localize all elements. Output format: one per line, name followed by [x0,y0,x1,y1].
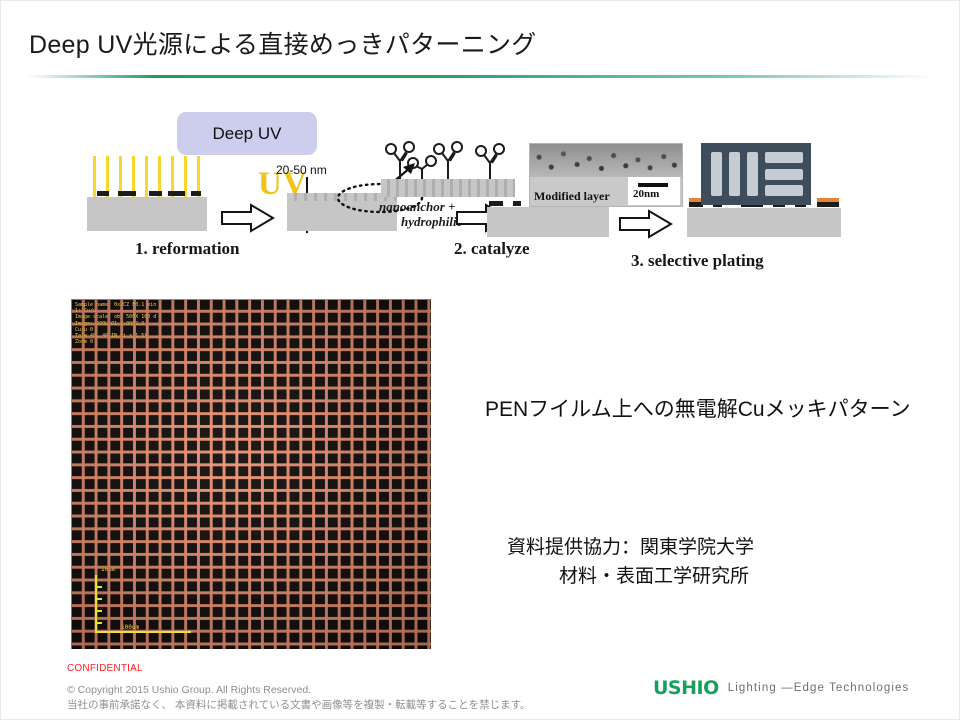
step-label-1: 1. reformation [135,239,240,259]
slide-canvas: Deep UV光源による直接めっきパターニング Deep UV UV [0,0,960,720]
photo-bar [765,152,803,163]
scale-tick [95,610,102,612]
scale-axis-vertical [95,575,97,633]
tem-micrograph-inset: Modified layer 20nm [529,143,683,207]
process-arrow-icon [221,203,275,233]
scale-label-horizontal: 100um [121,624,139,631]
photo-bar [765,185,803,196]
tem-scale-bar [638,183,668,187]
thickness-label: 20-50 nm [276,163,327,177]
credit-line-1: 資料提供協力：関東学院大学 [507,537,754,558]
ushio-wordmark: USHIO [653,677,719,699]
mask-segment [118,191,136,196]
scale-axis-horizontal [95,631,191,633]
tem-scale-box: 20nm [628,177,680,205]
plating-pattern-micrograph: Sample name: 0x2CZ E0.1 min 1: Cu/u Imag… [71,299,431,649]
photo-bar [711,152,722,196]
uv-ray-icon [93,156,96,198]
confidential-marking: CONFIDENTIAL [67,663,143,674]
tem-grain-texture [530,144,682,177]
plating-result-photo [701,143,811,205]
nanoanchor-caption-line1: nanoanchor + [379,199,455,214]
micrograph-scale-overlay: 10um 100um [95,575,191,633]
substrate-block [487,207,609,237]
catalyst-dot [489,201,503,206]
scale-label-vertical: 10um [101,566,115,573]
photo-bar [747,152,758,196]
photo-bar [765,169,803,180]
substrate-block [87,197,207,231]
scale-tick [95,598,102,600]
scale-tick [95,586,102,588]
credit-block: 資料提供協力：関東学院大学 材料・表面工学研究所 [507,533,754,591]
catalyst-dot [513,201,521,206]
photo-bar [729,152,740,196]
page-title: Deep UV光源による直接めっきパターニング [29,25,537,61]
uv-ray-icon [145,156,148,198]
tem-caption: Modified layer [534,189,610,204]
tem-scale-label: 20nm [633,188,659,200]
ushio-tagline: Lighting —Edge Technologies [728,682,910,694]
substrate-block [687,208,841,237]
copyright-line-1: © Copyright 2015 Ushio Group. All Rights… [67,683,531,698]
step-label-2: 2. catalyze [454,239,530,259]
catalyst-dot [817,202,839,207]
copyright-line-2: 当社の事前承諾なく、 本資料に掲載されている文書や画像等を複製・転載等することを… [67,698,531,713]
step-label-3: 3. selective plating [631,251,764,271]
metadata-line: Zoom 0 [75,339,225,345]
mask-segment [149,191,162,196]
credit-line-2: 材料・表面工学研究所 [507,562,754,591]
micrograph-caption: PENフイルム上への無電解Cuメッキパターン [485,393,911,423]
mask-segment [97,191,109,196]
scale-tick [95,622,102,624]
title-underline-rule [27,75,935,78]
process-diagram: UV 20-50 nm [61,131,941,286]
ushio-logo: USHIO Lighting —Edge Technologies [653,677,909,699]
copyright-notice: © Copyright 2015 Ushio Group. All Rights… [67,683,531,713]
mask-segment [168,191,185,196]
mask-segment [191,191,201,196]
process-arrow-icon [619,209,673,239]
micrograph-metadata-overlay: Sample name: 0x2CZ E0.1 min 1: Cu/u Imag… [75,302,225,345]
nanoanchor-caption-line2: hydrophilic [379,214,462,229]
nanoanchor-caption: nanoanchor + hydrophilic [379,199,462,229]
nanoanchor-surface [381,179,515,197]
